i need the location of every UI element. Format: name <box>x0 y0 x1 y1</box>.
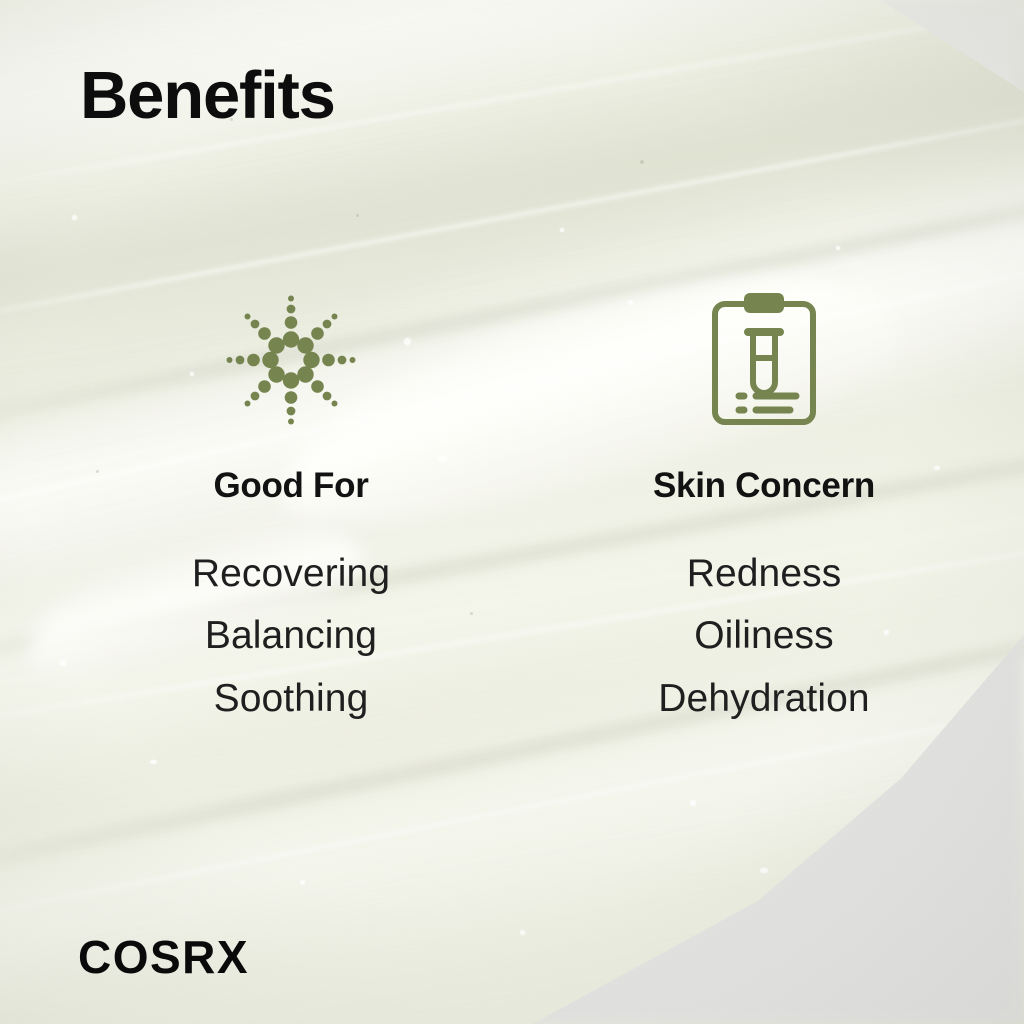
benefit-list: Redness Oiliness Dehydration <box>584 543 944 730</box>
list-item: Dehydration <box>584 668 944 730</box>
list-item: Recovering <box>111 543 471 605</box>
list-item: Oiliness <box>584 605 944 667</box>
benefits-infographic: Benefits <box>0 0 1024 1024</box>
page-title: Benefits <box>80 62 335 129</box>
list-item: Balancing <box>111 605 471 667</box>
brand-logo: COSRX <box>78 934 249 980</box>
sunburst-dots-icon <box>111 285 471 435</box>
column-heading: Skin Concern <box>584 468 944 503</box>
column-heading: Good For <box>111 468 471 503</box>
clipboard-test-tube-icon <box>584 285 944 435</box>
list-item: Redness <box>584 543 944 605</box>
benefit-column-skin-concern: Skin Concern Redness Oiliness Dehydratio… <box>584 285 944 730</box>
benefit-list: Recovering Balancing Soothing <box>111 543 471 730</box>
benefit-column-good-for: Good For Recovering Balancing Soothing <box>111 285 471 730</box>
list-item: Soothing <box>111 668 471 730</box>
